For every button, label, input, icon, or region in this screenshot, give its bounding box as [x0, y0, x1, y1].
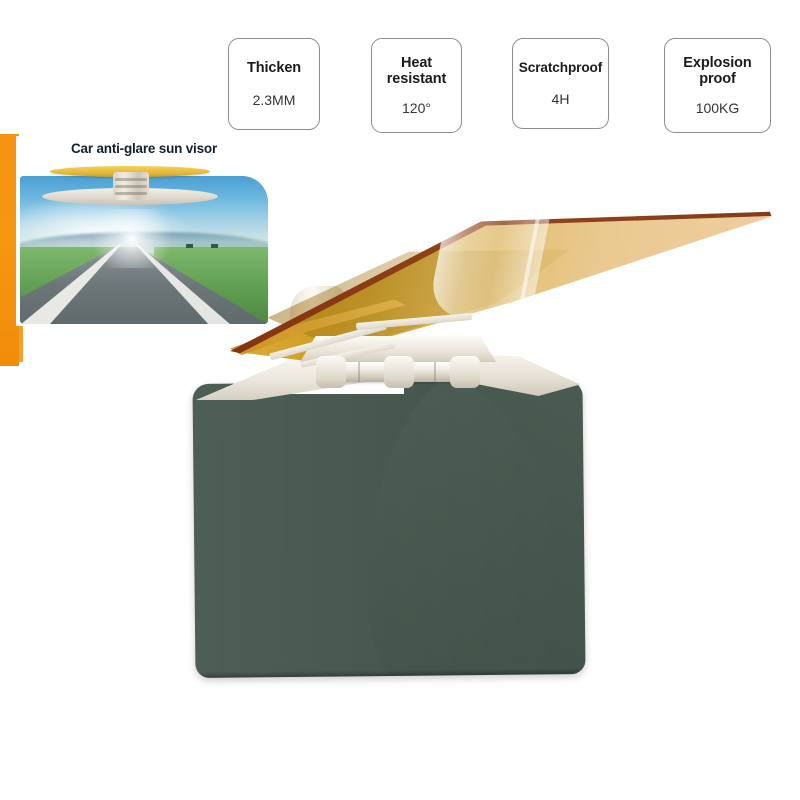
- mounting-hook-clip: [424, 198, 550, 330]
- hinge-knuckle: [450, 356, 480, 388]
- hinge-knuckle: [316, 356, 346, 388]
- inset-visor-hinge: [113, 172, 149, 200]
- product-image-canvas: Thicken 2.3MM Heat resistant 120° Scratc…: [0, 0, 800, 800]
- hinge-segment-line: [434, 362, 436, 382]
- hinge-knuckle: [384, 356, 414, 388]
- hook-lip: [425, 198, 491, 250]
- hinge-segment-line: [358, 362, 360, 382]
- green-lower-visor-panel: [192, 380, 585, 678]
- inset-caption: Car anti-glare sun visor: [16, 141, 272, 156]
- product-render: [0, 0, 800, 800]
- hinge-mechanism: [322, 352, 474, 392]
